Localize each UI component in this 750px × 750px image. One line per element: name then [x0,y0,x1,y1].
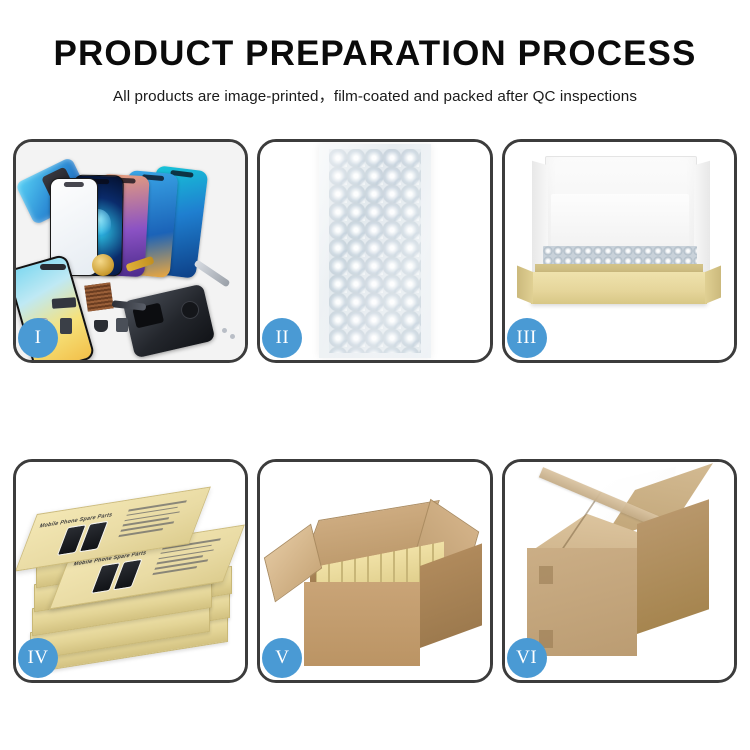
page-title: PRODUCT PREPARATION PROCESS [0,0,750,74]
step-panel-5: V [257,459,492,683]
step-panel-1: I [13,139,248,363]
small-component-2 [94,320,108,332]
speaker-part [92,254,114,276]
screw-icon-2 [230,334,235,339]
flex-cable-4 [52,297,77,309]
step-badge-1: I [18,318,58,358]
carton-front-panel [304,582,420,666]
plastic-sheen [319,144,431,358]
header: PRODUCT PREPARATION PROCESS All products… [0,0,750,106]
step-panel-2: II [257,139,492,363]
box-label-spec-lines [117,499,195,540]
small-component-3 [116,318,128,332]
bubble-wrap-sachet [319,144,431,358]
small-component-1 [60,318,72,334]
retail-box-stack: Mobile Phone Spare Parts Mobile Phone Sp… [26,478,232,674]
process-steps-grid: I II III [13,139,737,687]
foam-sheet [551,194,689,250]
kraft-box-front [531,272,707,304]
step-badge-3: III [507,318,547,358]
page-subtitle: All products are image-printed，film-coat… [0,74,750,106]
product-preparation-infographic: PRODUCT PREPARATION PROCESS All products… [0,0,750,750]
step-panel-6: VI [502,459,737,683]
step-panel-4: Mobile Phone Spare Parts Mobile Phone Sp… [13,459,248,683]
step-badge-6: VI [507,638,547,678]
phone-screen-fan [44,148,234,276]
step-badge-4: IV [18,638,58,678]
step-panel-3: III [502,139,737,363]
flex-cable-3 [40,264,66,270]
screw-icon-1 [222,328,227,333]
screw-tray [84,282,113,311]
carton-hand-hole-1 [539,566,553,584]
